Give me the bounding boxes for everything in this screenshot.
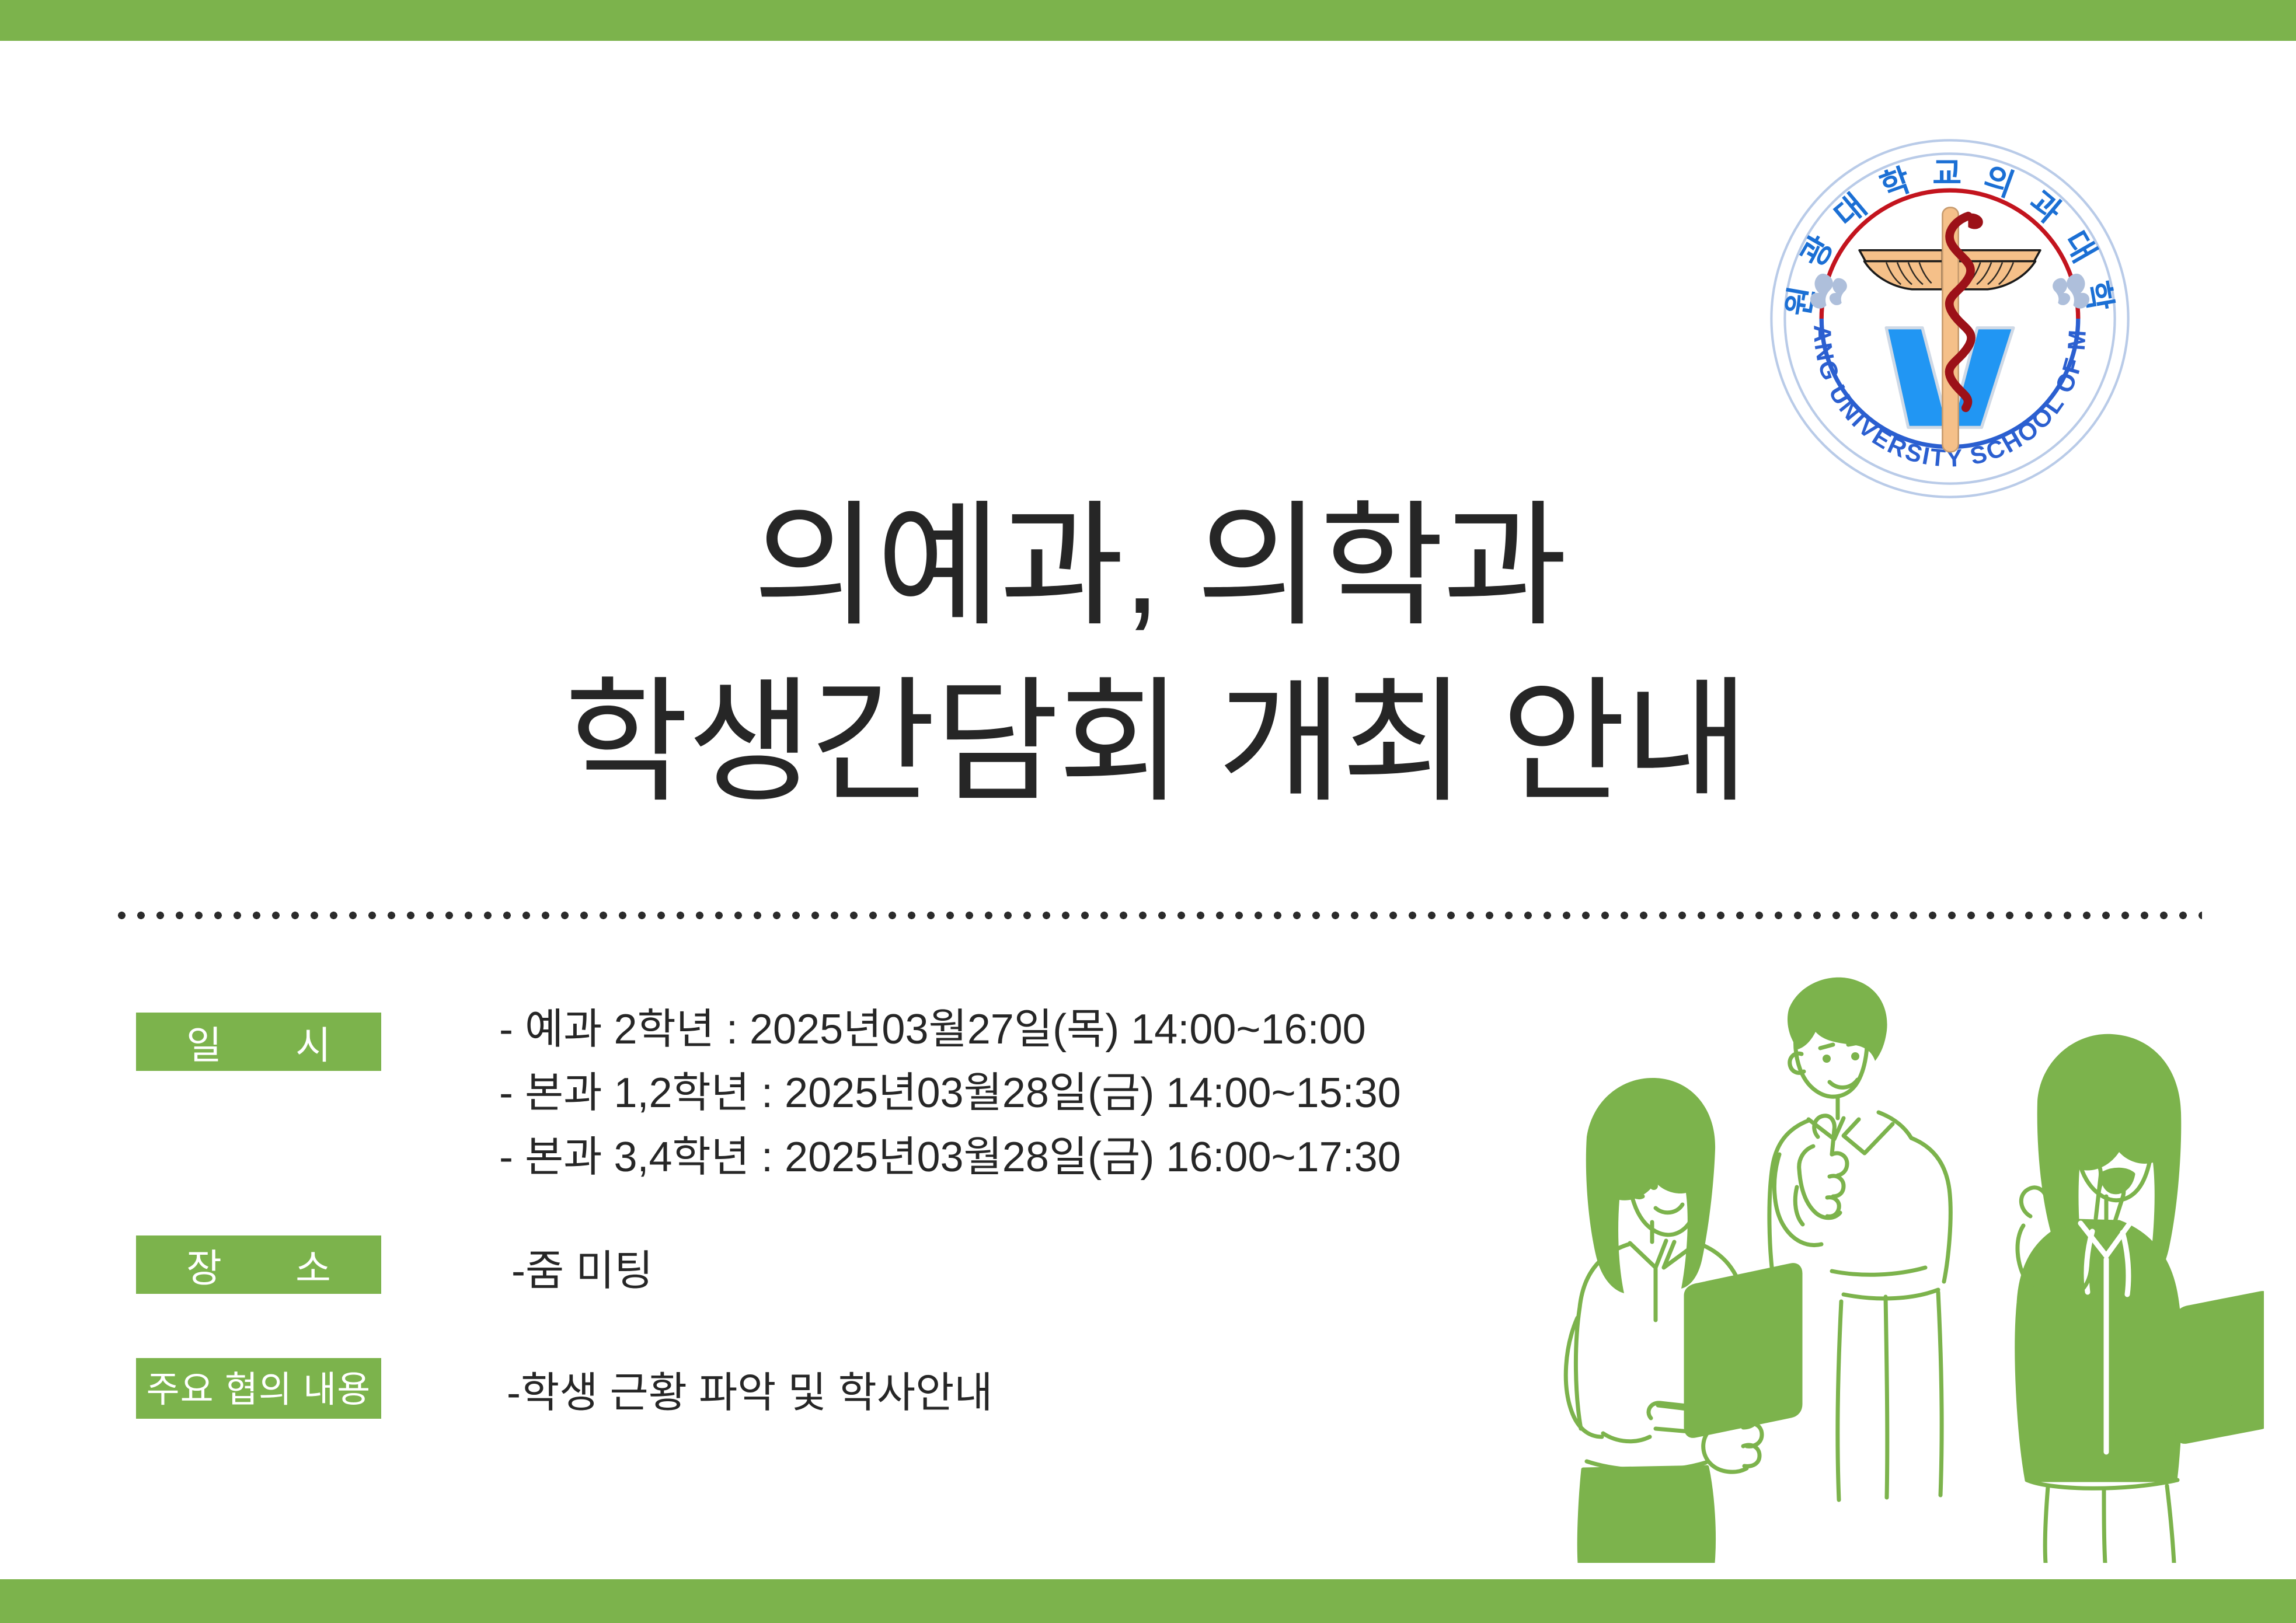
detail-line: - 본과 3,4학년 : 2025년03월28일(금) 16:00~17:30 — [499, 1126, 1401, 1189]
student-left — [1566, 1078, 1800, 1563]
detail-agenda: -학생 근황 파악 및 학사안내 — [507, 1362, 993, 1425]
detail-line: -학생 근황 파악 및 학사안내 — [507, 1362, 993, 1425]
poster-canvas: 원 광 대 학 교 의 과 대 학 WONKWANG UNIVERSITY SC… — [0, 0, 2296, 1623]
student-center — [1769, 978, 1950, 1500]
student-right — [2017, 1034, 2264, 1563]
detail-line: - 예과 2학년 : 2025년03월27일(목) 14:00~16:00 — [499, 998, 1401, 1062]
bottom-green-band — [0, 1579, 2296, 1623]
tag-datetime: 일 시 — [136, 1013, 381, 1071]
tag-datetime-label: 일 시 — [136, 1026, 381, 1064]
poster-title: 의예과, 의학과 학생간담회 개최 안내 — [0, 479, 2296, 830]
tag-place: 장 소 — [136, 1235, 381, 1294]
tag-place-label: 장 소 — [136, 1249, 381, 1287]
title-line-2: 학생간담회 개최 안내 — [16, 655, 2296, 831]
tag-agenda: 주요 협의 내용 — [136, 1358, 381, 1419]
students-illustration — [1505, 944, 2264, 1563]
detail-line: - 본과 1,2학년 : 2025년03월28일(금) 14:00~15:30 — [499, 1062, 1401, 1125]
detail-datetime: - 예과 2학년 : 2025년03월27일(목) 14:00~16:00 - … — [499, 998, 1401, 1189]
detail-line: -줌 미팅 — [511, 1240, 653, 1303]
top-green-band — [0, 0, 2296, 41]
university-emblem: 원 광 대 학 교 의 과 대 학 WONKWANG UNIVERSITY SC… — [1767, 135, 2133, 502]
dotted-divider — [112, 912, 2202, 919]
title-line-1: 의예과, 의학과 — [23, 479, 2296, 655]
tag-agenda-label: 주요 협의 내용 — [136, 1372, 381, 1408]
detail-place: -줌 미팅 — [511, 1240, 653, 1303]
